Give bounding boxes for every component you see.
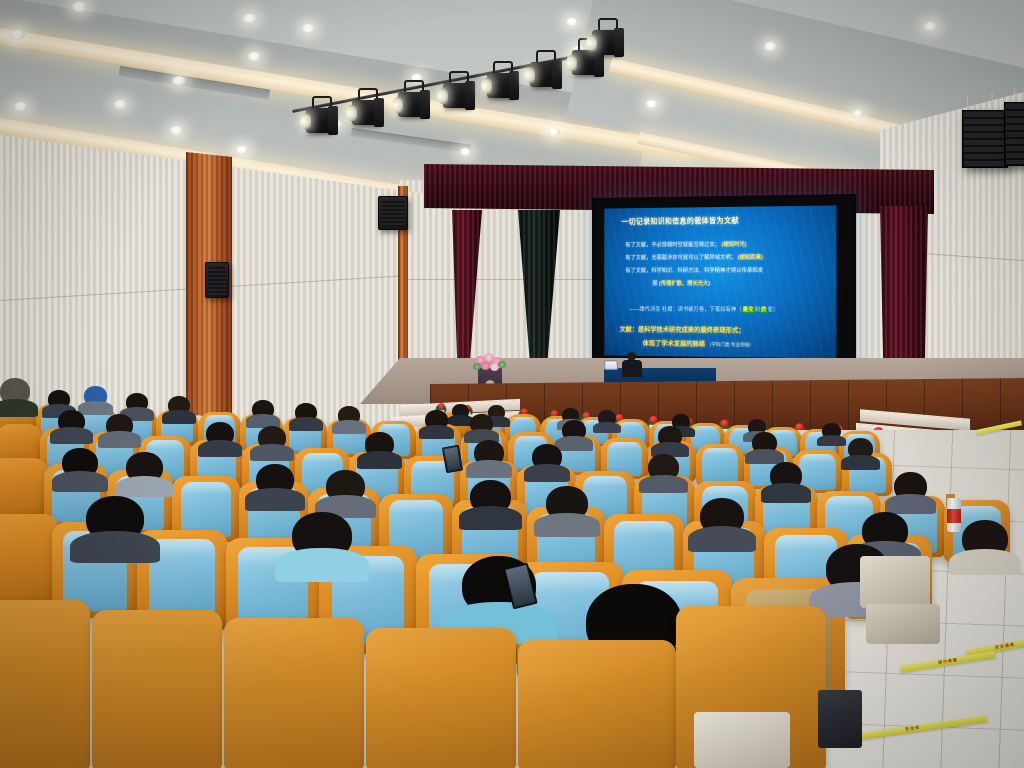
presenter	[622, 352, 642, 376]
audience-member	[256, 464, 294, 496]
downlight	[172, 76, 186, 85]
audience-member	[326, 470, 365, 503]
wall-mounted-speaker	[205, 262, 229, 298]
audience-member	[648, 454, 679, 481]
audience-member	[470, 414, 493, 434]
audience-member	[48, 390, 70, 409]
slide-bullet-1: 有了文献，不必穿越时空就能互晓过去； (缩短时光)	[625, 240, 746, 249]
audience-bag	[818, 690, 862, 748]
audience-member	[452, 404, 469, 419]
audience-member	[425, 410, 448, 430]
audience-member	[470, 480, 511, 514]
slide-bullet-3: 有了文献，科学知识、科研方法、科学精神才得以传承和发	[625, 266, 763, 274]
downlight	[764, 42, 777, 51]
auditorium-seat[interactable]	[366, 628, 516, 768]
hanging-line-array-speaker	[1004, 102, 1024, 166]
audience-member	[0, 378, 30, 405]
slide-bullet-2: 有了文献，无需跋涉亦可就可以了解异域文明； (缩短距离)	[625, 253, 763, 262]
audience-member	[658, 426, 682, 447]
audience-member	[598, 410, 616, 426]
water-bottle	[947, 498, 961, 532]
audience-member	[894, 472, 927, 501]
downlight	[14, 102, 28, 111]
audience-member	[338, 406, 360, 425]
audience-member	[962, 520, 1008, 558]
audience-member	[86, 496, 144, 542]
audience-member	[822, 423, 841, 439]
slide-conclusion-2: 体现了学术发展的脉络 （学科门类 专业领域）	[643, 338, 754, 348]
audience-member	[546, 486, 588, 521]
audience-member	[700, 498, 744, 535]
audience-member	[848, 438, 873, 460]
audience-bag	[866, 604, 940, 644]
audience-member	[168, 396, 190, 415]
downlight	[72, 2, 87, 12]
downlight	[646, 100, 658, 108]
auditorium-seat[interactable]	[0, 600, 90, 768]
auditorium-seat[interactable]	[224, 618, 364, 768]
audience-member	[295, 403, 317, 422]
audience-member	[62, 448, 98, 478]
audience-bag	[860, 556, 930, 608]
downlight	[236, 146, 248, 154]
slide-conclusion-1: 文献：是科学技术研究成果的最终表现形式；	[620, 324, 745, 334]
auditorium-seat[interactable]	[518, 640, 676, 768]
auditorium-photo: 一切记录知识和信息的载体皆为文献 有了文献，不必穿越时空就能互晓过去； (缩短时…	[0, 0, 1024, 768]
audience-member	[474, 440, 504, 466]
wall-seam	[398, 279, 598, 280]
audience-member	[106, 414, 133, 437]
downlight	[243, 14, 257, 23]
auditorium-seat[interactable]	[92, 610, 222, 768]
audience-member	[752, 432, 777, 454]
slide-bullet-4: 展 (传播扩散、增长光大)	[652, 279, 710, 287]
downlight	[548, 128, 560, 136]
slide-quote: ——唐代诗圣 杜甫：读书破万卷，下笔如有神（量变到质变）	[629, 305, 778, 314]
auditorium-seat[interactable]	[0, 458, 48, 518]
hanging-line-array-speaker	[962, 110, 1008, 168]
audience-member	[562, 420, 586, 441]
audience-member	[58, 410, 85, 433]
downlight	[852, 110, 864, 118]
audience-member	[365, 432, 394, 457]
audience-member	[258, 426, 286, 450]
audience-member	[206, 422, 234, 446]
audience-member	[126, 393, 148, 412]
downlight	[302, 24, 315, 33]
audience-member	[126, 452, 163, 483]
downlight	[248, 52, 261, 61]
downlight	[170, 126, 183, 135]
auditorium-seat[interactable]	[0, 514, 58, 606]
downlight	[460, 148, 471, 156]
projection-screen-frame: 一切记录知识和信息的载体皆为文献 有了文献，不必穿越时空就能互晓过去； (缩短时…	[592, 194, 856, 372]
projection-screen: 一切记录知识和信息的载体皆为文献 有了文献，不必穿越时空就能互晓过去； (缩短时…	[604, 205, 836, 358]
slide-title: 一切记录知识和信息的载体皆为文献	[622, 216, 739, 227]
downlight	[10, 30, 25, 40]
audience-member	[770, 462, 802, 490]
downlight	[566, 18, 578, 26]
audience-member	[252, 400, 274, 419]
audience-bag	[694, 712, 790, 768]
audience-member	[532, 444, 562, 470]
downlight	[114, 100, 127, 109]
audience-member	[84, 386, 107, 406]
presenter-laptop	[604, 360, 618, 370]
auditorium-seat[interactable]	[696, 444, 744, 486]
audience-member	[292, 512, 352, 560]
downlight	[924, 22, 937, 31]
wall-mounted-speaker	[378, 196, 408, 230]
podium-flower-bouquet	[472, 352, 508, 374]
